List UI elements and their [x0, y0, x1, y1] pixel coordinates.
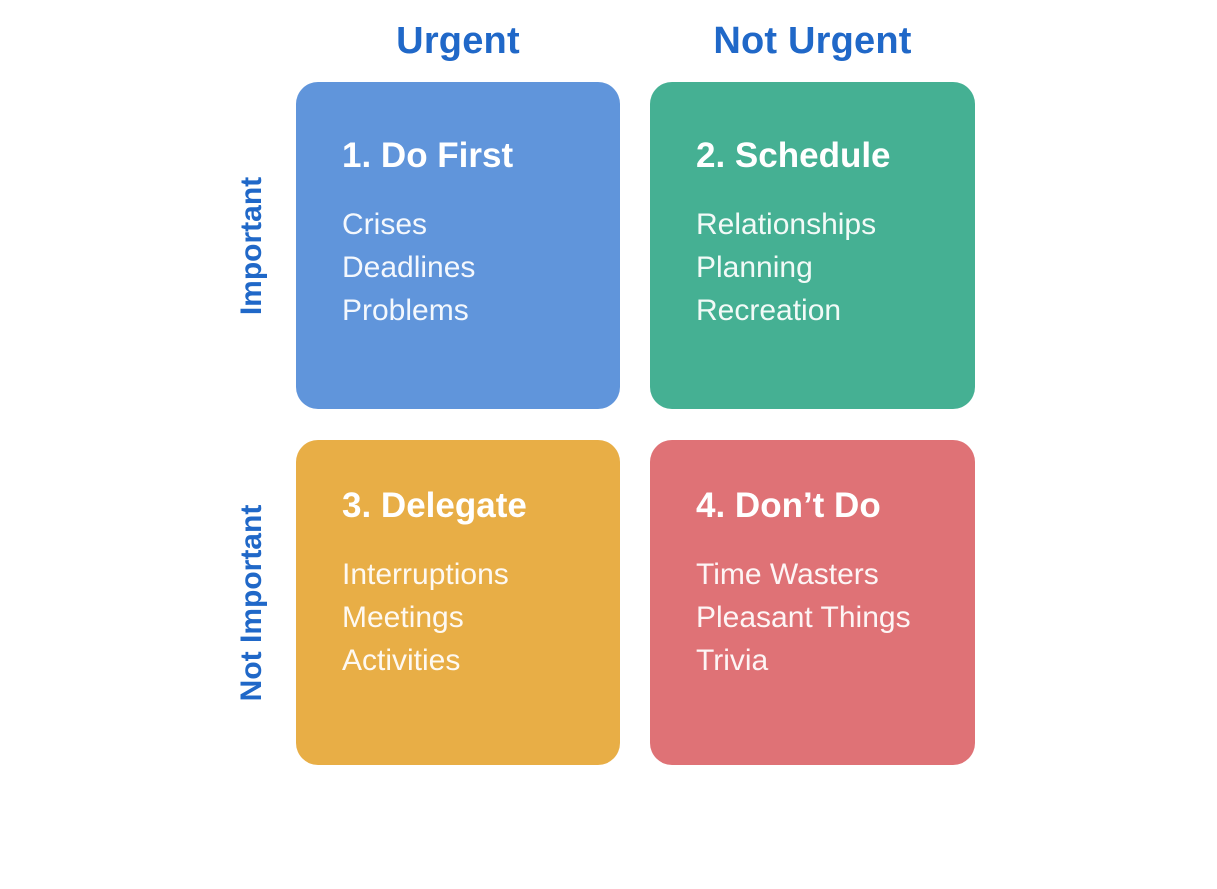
quadrant-title: 2. Schedule [696, 138, 957, 173]
column-header-not-urgent: Not Urgent [650, 22, 975, 60]
quadrant-item: Interruptions [342, 553, 602, 596]
quadrant-dont-do[interactable]: 4. Don’t Do Time Wasters Pleasant Things… [650, 440, 975, 765]
quadrant-title: 1. Do First [342, 138, 602, 173]
quadrant-content: 3. Delegate Interruptions Meetings Activ… [342, 488, 602, 682]
eisenhower-matrix: Urgent Not Urgent Important Not Importan… [0, 0, 1217, 787]
quadrant-do-first[interactable]: 1. Do First Crises Deadlines Problems [296, 82, 620, 409]
quadrant-item: Deadlines [342, 246, 602, 289]
row-header-not-important: Not Important [237, 317, 273, 889]
quadrant-item: Activities [342, 639, 602, 682]
quadrant-item: Meetings [342, 596, 602, 639]
quadrant-item: Recreation [696, 289, 957, 332]
quadrant-item: Crises [342, 203, 602, 246]
quadrant-item: Relationships [696, 203, 957, 246]
quadrant-content: 4. Don’t Do Time Wasters Pleasant Things… [696, 488, 957, 682]
quadrant-item: Pleasant Things [696, 596, 957, 639]
quadrant-item: Planning [696, 246, 957, 289]
quadrant-content: 2. Schedule Relationships Planning Recre… [696, 138, 957, 332]
quadrant-content: 1. Do First Crises Deadlines Problems [342, 138, 602, 332]
quadrant-item-list: Crises Deadlines Problems [342, 203, 602, 332]
quadrant-title: 3. Delegate [342, 488, 602, 523]
quadrant-item-list: Time Wasters Pleasant Things Trivia [696, 553, 957, 682]
quadrant-schedule[interactable]: 2. Schedule Relationships Planning Recre… [650, 82, 975, 409]
quadrant-title: 4. Don’t Do [696, 488, 957, 523]
quadrant-item-list: Relationships Planning Recreation [696, 203, 957, 332]
quadrant-item: Time Wasters [696, 553, 957, 596]
quadrant-item-list: Interruptions Meetings Activities [342, 553, 602, 682]
quadrant-delegate[interactable]: 3. Delegate Interruptions Meetings Activ… [296, 440, 620, 765]
quadrant-item: Trivia [696, 639, 957, 682]
quadrant-item: Problems [342, 289, 602, 332]
column-header-urgent: Urgent [296, 22, 620, 60]
